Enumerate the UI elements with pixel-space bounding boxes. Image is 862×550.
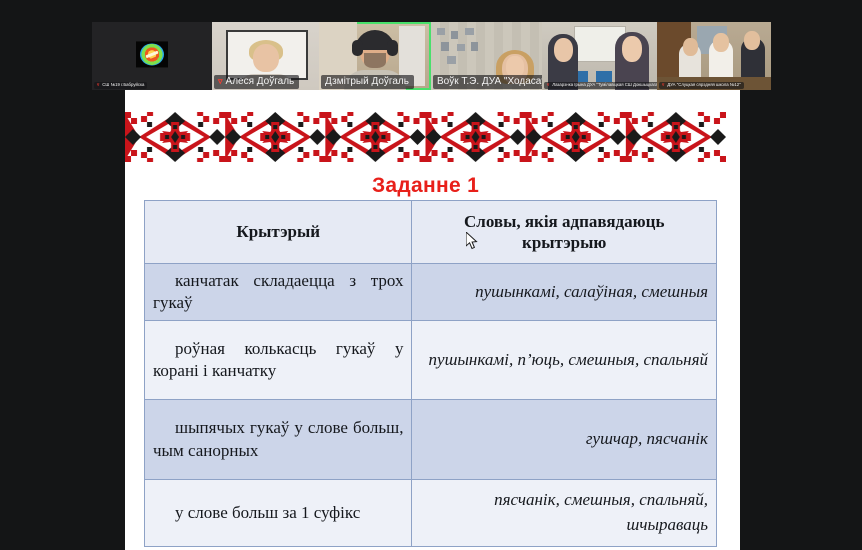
- table-header-row: Крытэрый Словы, якія адпавядаюць крытэры…: [145, 201, 717, 264]
- shared-slide: Заданне 1 Крытэрый Словы, якія адпавядаю…: [125, 90, 740, 550]
- video-tile-3-active-speaker[interactable]: Дзмітрый Доўгаль: [319, 22, 431, 90]
- cell-words: пясчанік, смешныя, спальняй, шчыраваць: [412, 480, 717, 547]
- mic-muted-icon: ▿: [547, 83, 549, 88]
- mic-muted-icon: ▿: [218, 77, 223, 86]
- cell-criterion: шыпячых гукаў у слове больш, чым санорны…: [145, 400, 412, 480]
- participant-name-badge: ▿ ДУА "Слуцкая сярэдняя школа №12": [659, 82, 744, 89]
- screen: ▿ СШ №19 г.Бабруйска ▿ Алеся Доўгаль Дзм…: [0, 0, 862, 550]
- table-row: шыпячых гукаў у слове больш, чым санорны…: [145, 400, 717, 480]
- mic-muted-icon: ▿: [97, 83, 99, 88]
- cell-words: пушынкамі, п’юць, смешныя, спальняй: [412, 321, 717, 400]
- cell-words: гушчар, пясчанік: [412, 400, 717, 480]
- participant-name: Лазарэнка Ірына ДУА "Тумілавіцкая СШ Док…: [552, 83, 657, 88]
- participant-name-badge: Дзмітрый Доўгаль: [321, 75, 414, 89]
- video-tile-2[interactable]: ▿ Алеся Доўгаль: [212, 22, 319, 90]
- participant-name-badge: ▿ СШ №19 г.Бабруйска: [94, 82, 147, 89]
- video-tile-4[interactable]: Воўк Т.Э. ДУА "Ходасаўск...: [431, 22, 542, 90]
- belarusian-ornament-border: [125, 112, 726, 162]
- participant-name: ДУА "Слуцкая сярэдняя школа №12": [667, 83, 740, 88]
- participant-name: Воўк Т.Э. ДУА "Ходасаўск...: [437, 76, 542, 87]
- slide-title: Заданне 1: [125, 174, 726, 198]
- participant-name-badge: Воўк Т.Э. ДУА "Ходасаўск...: [433, 75, 542, 89]
- participant-name-badge: ▿ Алеся Доўгаль: [214, 75, 299, 89]
- video-tile-5[interactable]: ▿ Лазарэнка Ірына ДУА "Тумілавіцкая СШ Д…: [542, 22, 657, 90]
- cell-criterion: роўная колькасць гукаў у корані і канчат…: [145, 321, 412, 400]
- participant-name: Алеся Доўгаль: [226, 76, 295, 87]
- column-header-criterion: Крытэрый: [145, 201, 412, 264]
- table-row: канчатак складаецца з трох гукаў пушынка…: [145, 264, 717, 321]
- cell-words: пушынкамі, салаўіная, смешныя: [412, 264, 717, 321]
- mic-muted-icon: ▿: [662, 83, 664, 88]
- cell-criterion: у слове больш за 1 суфікс: [145, 480, 412, 547]
- video-tile-6[interactable]: ▿ ДУА "Слуцкая сярэдняя школа №12": [657, 22, 771, 90]
- criteria-table: Крытэрый Словы, якія адпавядаюць крытэры…: [144, 200, 717, 547]
- school-logo-icon: [136, 41, 168, 67]
- cell-criterion: канчатак складаецца з трох гукаў: [145, 264, 412, 321]
- participant-name: Дзмітрый Доўгаль: [325, 76, 409, 87]
- video-conference-strip: ▿ СШ №19 г.Бабруйска ▿ Алеся Доўгаль Дзм…: [92, 22, 771, 90]
- table-row: у слове больш за 1 суфікс пясчанік, смеш…: [145, 480, 717, 547]
- column-header-words: Словы, якія адпавядаюць крытэрыю: [412, 201, 717, 264]
- table-row: роўная колькасць гукаў у корані і канчат…: [145, 321, 717, 400]
- participant-name-badge: ▿ Лазарэнка Ірына ДУА "Тумілавіцкая СШ Д…: [544, 82, 657, 89]
- video-tile-1[interactable]: ▿ СШ №19 г.Бабруйска: [92, 22, 212, 90]
- participant-name: СШ №19 г.Бабруйска: [102, 83, 144, 88]
